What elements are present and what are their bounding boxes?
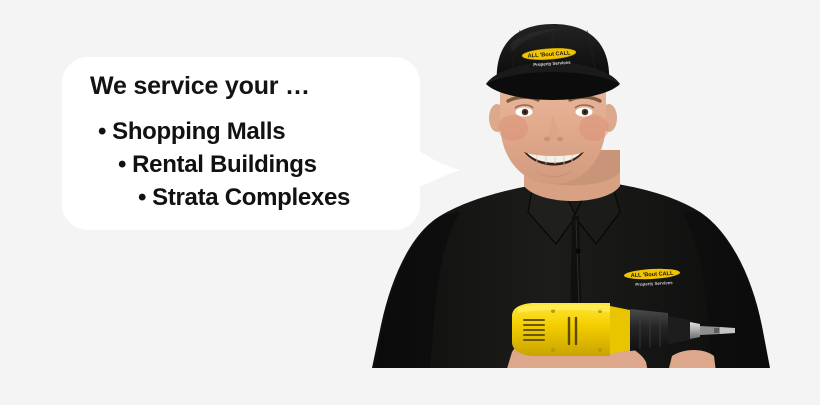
- list-item-label: Rental Buildings: [132, 151, 317, 178]
- bullet-icon: •: [98, 115, 106, 148]
- baseball-cap: ALL 'Bout CALL Property Services: [486, 24, 620, 100]
- list-item-label: Shopping Malls: [112, 118, 285, 145]
- list-item: •Rental Buildings: [62, 148, 420, 181]
- bullet-icon: •: [118, 148, 126, 181]
- list-item-label: Strata Complexes: [152, 184, 350, 211]
- promo-banner: ALL 'Bout CALL Property Services: [0, 0, 820, 405]
- list-item: •Shopping Malls: [62, 115, 420, 148]
- bullet-icon: •: [138, 181, 146, 214]
- speech-bubble-tail: [404, 138, 464, 194]
- services-list: •Shopping Malls •Rental Buildings •Strat…: [62, 115, 420, 214]
- list-item: •Strata Complexes: [62, 181, 420, 214]
- speech-bubble: We service your … •Shopping Malls •Renta…: [62, 57, 420, 230]
- bubble-heading: We service your …: [90, 72, 310, 101]
